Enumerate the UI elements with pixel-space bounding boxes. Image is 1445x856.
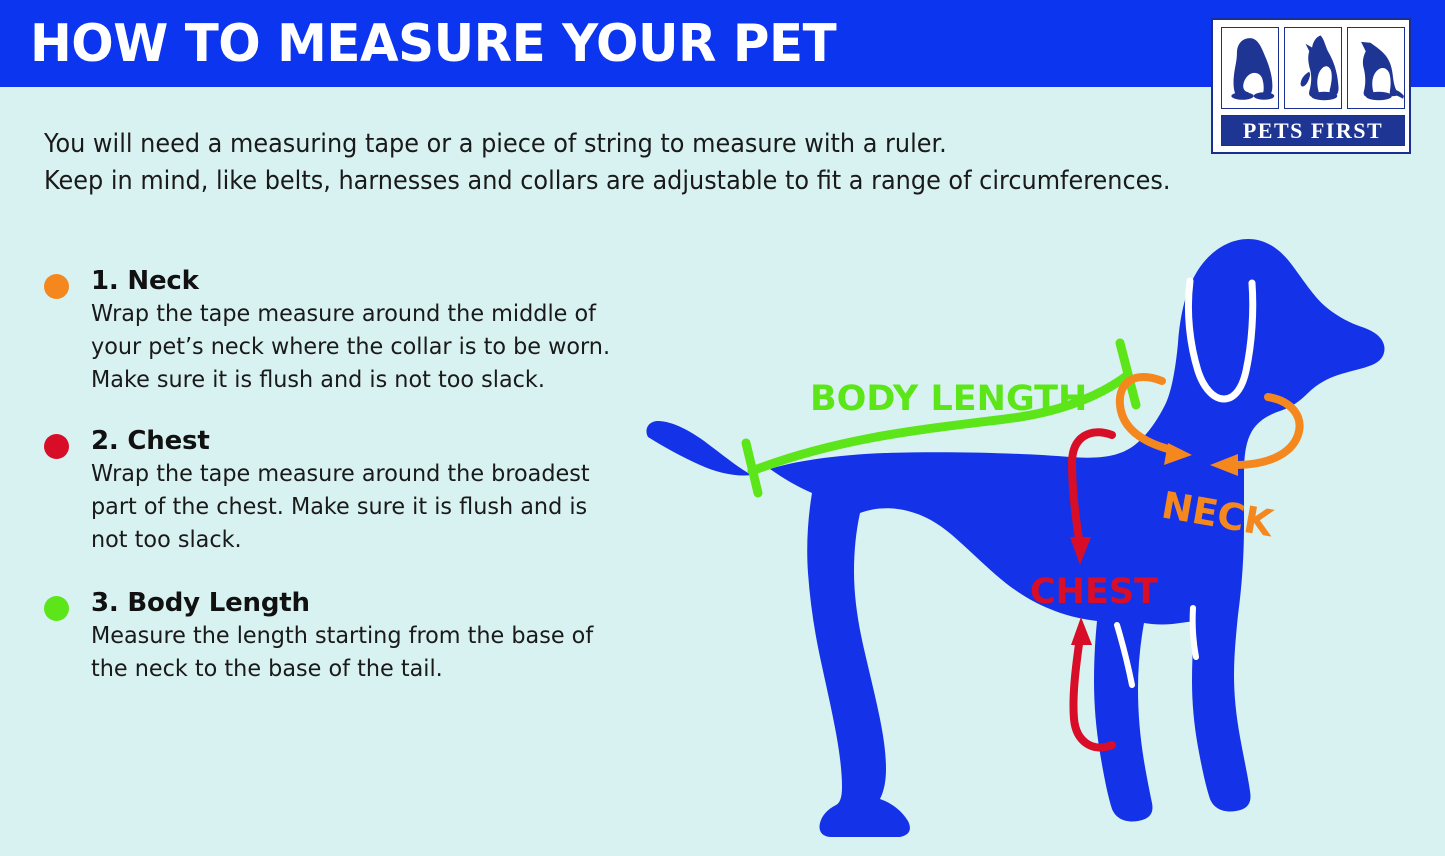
chest-arrow-bottom-head-icon bbox=[1071, 617, 1092, 645]
page-title: HOW TO MEASURE YOUR PET bbox=[30, 14, 836, 74]
front-leg-line-2-icon bbox=[1193, 608, 1196, 657]
step-title-neck: 1. Neck bbox=[91, 266, 644, 296]
logo-panel-row bbox=[1221, 27, 1405, 109]
bullet-neck bbox=[44, 274, 69, 299]
dog-silhouette-icon bbox=[646, 239, 1384, 837]
brand-logo: PETS FIRST bbox=[1211, 18, 1411, 154]
dog-howling-icon bbox=[1285, 28, 1341, 108]
infographic-page: HOW TO MEASURE YOUR PET bbox=[0, 0, 1445, 856]
logo-panel-1 bbox=[1221, 27, 1279, 109]
intro-line-1: You will need a measuring tape or a piec… bbox=[44, 126, 1200, 163]
step-body-neck: Wrap the tape measure around the middle … bbox=[91, 297, 616, 396]
measurement-steps-list: 1. Neck Wrap the tape measure around the… bbox=[44, 266, 644, 715]
chest-label: CHEST bbox=[1030, 572, 1158, 612]
body-length-label: BODY LENGTH bbox=[810, 379, 1087, 419]
step-item-body-length: 3. Body Length Measure the length starti… bbox=[44, 588, 644, 685]
step-item-chest: 2. Chest Wrap the tape measure around th… bbox=[44, 426, 644, 556]
dog-sitting-icon bbox=[1222, 28, 1278, 108]
bullet-body-length bbox=[44, 596, 69, 621]
step-title-chest: 2. Chest bbox=[91, 426, 644, 456]
intro-line-2: Keep in mind, like belts, harnesses and … bbox=[44, 163, 1200, 200]
logo-panel-2 bbox=[1284, 27, 1342, 109]
dog-sitting-side-icon bbox=[1348, 28, 1404, 108]
step-item-neck: 1. Neck Wrap the tape measure around the… bbox=[44, 266, 644, 396]
intro-text: You will need a measuring tape or a piec… bbox=[44, 126, 1200, 200]
logo-brand-banner: PETS FIRST bbox=[1221, 115, 1405, 146]
logo-panel-3 bbox=[1347, 27, 1405, 109]
step-title-body-length: 3. Body Length bbox=[91, 588, 644, 618]
logo-brand-text: PETS FIRST bbox=[1243, 120, 1383, 142]
step-body-body-length: Measure the length starting from the bas… bbox=[91, 619, 616, 685]
bullet-chest bbox=[44, 434, 69, 459]
step-body-chest: Wrap the tape measure around the broades… bbox=[91, 457, 616, 556]
dog-measurement-diagram: BODY LENGTH CHEST NECK bbox=[620, 225, 1445, 856]
